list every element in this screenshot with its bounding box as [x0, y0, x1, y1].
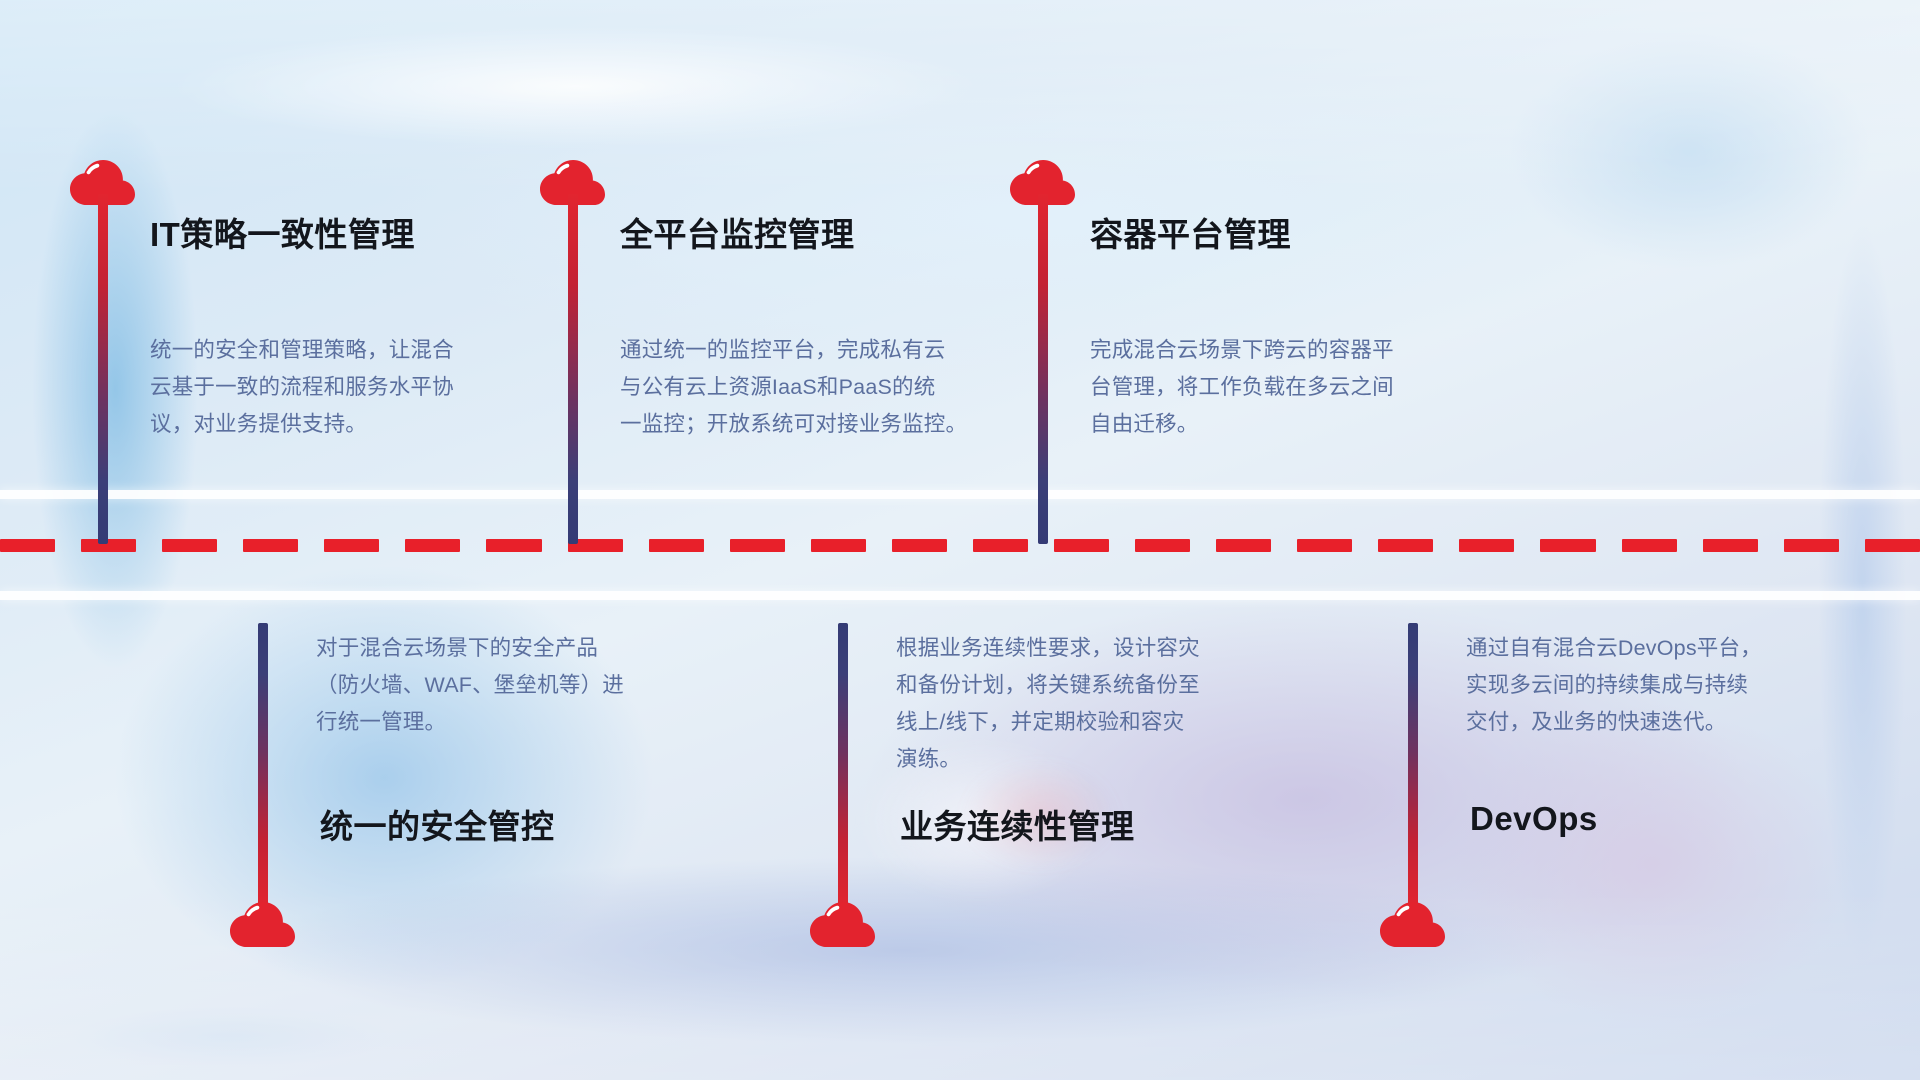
timeline-stem	[568, 194, 578, 544]
item-description: 通过统一的监控平台，完成私有云 与公有云上资源IaaS和PaaS的统 一监控；开…	[620, 332, 1020, 443]
item-title: DevOps	[1470, 800, 1598, 838]
timeline-axis	[0, 490, 1920, 600]
item-description: 对于混合云场景下的安全产品 （防火墙、WAF、堡垒机等）进 行统一管理。	[316, 630, 736, 741]
axis-dash	[1459, 539, 1514, 552]
timeline-stem	[838, 623, 848, 908]
axis-dash	[1378, 539, 1433, 552]
axis-dash	[405, 539, 460, 552]
item-title: 统一的安全管控	[320, 800, 555, 848]
axis-dash	[892, 539, 947, 552]
axis-dash	[486, 539, 541, 552]
axis-dash	[973, 539, 1028, 552]
axis-dash	[1540, 539, 1595, 552]
axis-dash	[730, 539, 785, 552]
axis-dash	[1703, 539, 1758, 552]
item-description: 根据业务连续性要求，设计容灾 和备份计划，将关键系统备份至 线上/线下，并定期校…	[896, 630, 1316, 778]
axis-dash	[1865, 539, 1920, 552]
item-title: 业务连续性管理	[900, 800, 1135, 848]
axis-dash	[811, 539, 866, 552]
axis-dash	[1216, 539, 1271, 552]
timeline-stem	[98, 194, 108, 544]
timeline-stem	[1408, 623, 1418, 908]
axis-dash	[162, 539, 217, 552]
axis-dash	[81, 539, 136, 552]
timeline-stem	[1038, 194, 1048, 544]
item-title: IT策略一致性管理	[150, 208, 415, 256]
item-title: 全平台监控管理	[620, 208, 855, 256]
axis-dash	[1297, 539, 1352, 552]
cloud-icon	[810, 902, 876, 948]
axis-dash	[0, 539, 55, 552]
timeline-stem	[258, 623, 268, 908]
axis-dashed-line	[0, 536, 1920, 555]
item-title: 容器平台管理	[1090, 208, 1291, 256]
axis-dash	[1135, 539, 1190, 552]
axis-dash	[649, 539, 704, 552]
item-description: 统一的安全和管理策略，让混合 云基于一致的流程和服务水平协 议，对业务提供支持。	[150, 332, 520, 443]
item-description: 完成混合云场景下跨云的容器平 台管理，将工作负载在多云之间 自由迁移。	[1090, 332, 1490, 443]
axis-band-bottom	[0, 591, 1920, 600]
item-description: 通过自有混合云DevOps平台， 实现多云间的持续集成与持续 交付，及业务的快速…	[1466, 630, 1886, 741]
axis-dash	[1784, 539, 1839, 552]
axis-band-top	[0, 490, 1920, 499]
cloud-icon	[230, 902, 296, 948]
cloud-icon	[1380, 902, 1446, 948]
axis-dash	[243, 539, 298, 552]
axis-dash	[1054, 539, 1109, 552]
axis-dash	[1622, 539, 1677, 552]
axis-dash	[324, 539, 379, 552]
